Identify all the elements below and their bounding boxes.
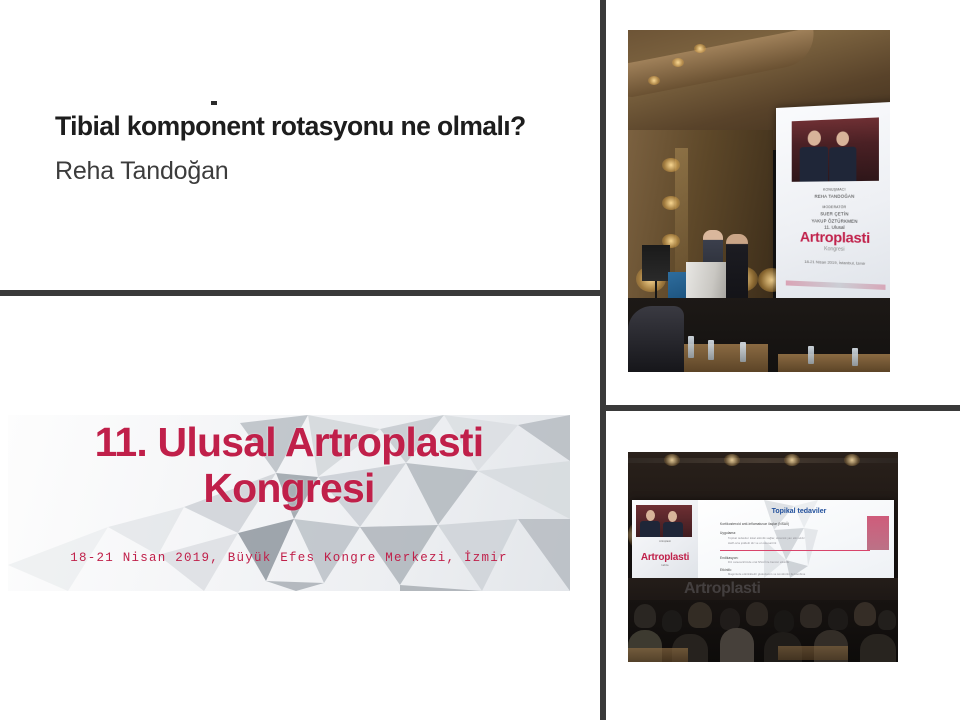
ceiling-downlight	[672, 58, 684, 67]
audience-table	[778, 646, 848, 660]
projected-bullet: Uygulama:	[720, 531, 736, 535]
water-bottle	[708, 340, 714, 360]
projected-title-panel: Artroplasti Artroplasti kahza	[632, 500, 698, 578]
projected-bullet: Kortikosteroid anti-inflamatuvar ilaçlar…	[720, 522, 789, 526]
artifact-speck-icon	[211, 101, 217, 105]
projection-screen: KONUŞMACI REHA TANDOĞAN MODERATÖR SUER Ç…	[776, 102, 890, 305]
wide-projection-screen: Artroplasti Artroplasti kahza Topikal te…	[632, 500, 894, 578]
speaker-body	[829, 147, 856, 182]
audience-table	[628, 648, 688, 662]
projected-speaker-name: REHA TANDOĞAN	[792, 193, 879, 200]
spotlight-icon	[724, 454, 740, 466]
banner-title: 11. Ulusal Artroplasti Kongresi	[8, 419, 570, 512]
audience-head	[662, 610, 682, 632]
talk-speaker-name: Reha Tandoğan	[55, 158, 229, 186]
projected-sub-bullet: Diz osteoartritinde oral NSAİİ ile benze…	[728, 561, 789, 564]
projected-date-venue: 18-21 Nisan 2019, İstanbul, İzmir	[786, 258, 886, 266]
projected-speaker-photo	[636, 505, 692, 537]
projected-bullet: Endikasyon:	[720, 556, 738, 560]
audience-head	[720, 608, 740, 630]
projected-brand: Artroplasti	[632, 552, 698, 563]
spotlight-icon	[844, 454, 860, 466]
divider-horizontal-right	[600, 405, 960, 411]
speaker-body	[800, 146, 828, 181]
projected-speaker-photo	[792, 117, 879, 181]
wall-lamp-icon	[662, 196, 680, 210]
projected-sub-bullet: Hafif-orta şiddetli diz ve el osteoartri…	[728, 542, 776, 545]
audience-head-front	[860, 634, 896, 662]
projected-divider-rule	[720, 550, 870, 551]
projected-speaker-label: KONUŞMACI	[792, 187, 879, 193]
projected-moderator-label: MODERATÖR	[792, 205, 879, 211]
divider-horizontal-left	[0, 290, 606, 296]
projected-sponsor-bar	[786, 280, 886, 290]
page-title: Tibial komponent rotasyonu ne olmalı?	[55, 112, 575, 141]
loudspeaker-icon	[642, 245, 670, 281]
speaker-head	[808, 130, 821, 146]
projected-brand-suffix: Kongresi	[786, 245, 886, 254]
speaker-body	[640, 521, 660, 537]
projected-sub-bullet: Topikal tedaviler lokal etkinlik sağlar,…	[728, 537, 805, 540]
talk-title-panel: Tibial komponent rotasyonu ne olmalı? Re…	[0, 0, 600, 290]
spotlight-icon	[784, 454, 800, 466]
projected-brand: Artroplasti	[786, 228, 886, 246]
divider-vertical	[600, 0, 606, 720]
audience-head-front	[720, 628, 754, 662]
banner-title-line1: 11. Ulusal Artroplasti	[95, 419, 484, 465]
audience-table	[778, 354, 890, 372]
audience-head	[688, 602, 712, 628]
speaker-head	[646, 510, 655, 521]
auditorium-podium-photo: KONUŞMACI REHA TANDOĞAN MODERATÖR SUER Ç…	[628, 30, 890, 372]
water-bottle	[808, 346, 814, 364]
audience-member	[628, 306, 684, 372]
water-bottle	[688, 336, 694, 358]
banner-date-venue: 18-21 Nisan 2019, Büyük Efes Kongre Merk…	[8, 551, 570, 565]
projected-sponsor: kahza	[632, 564, 698, 568]
projected-content-panel: Topikal tedaviler Kortikosteroid anti-in…	[698, 500, 894, 578]
audience-head	[800, 604, 822, 628]
projected-bullet: Etkinlik:	[720, 568, 732, 572]
spotlight-icon	[664, 454, 680, 466]
ceiling-downlight	[648, 76, 660, 85]
water-bottle	[852, 348, 858, 366]
audience-head	[854, 602, 876, 626]
banner-title-line2: Kongresi	[8, 465, 570, 511]
speaker-body	[663, 522, 683, 537]
audience-head	[634, 604, 656, 628]
speaker-head	[668, 511, 677, 522]
second-presenter	[726, 234, 748, 308]
sponsor-logo	[867, 516, 889, 550]
audience-head	[878, 610, 896, 630]
wall-lamp-icon	[662, 158, 680, 172]
audience-head	[774, 610, 794, 632]
speaker-head	[836, 131, 849, 146]
audience-wide-screen-photo: Artroplasti Artroplasti kahza Topikal te…	[628, 452, 898, 662]
audience-head	[828, 608, 848, 630]
congress-banner: 11. Ulusal Artroplasti Kongresi 18-21 Ni…	[8, 415, 570, 591]
audience-head	[746, 602, 768, 626]
projected-slide-title: Topikal tedaviler	[734, 508, 864, 515]
wall-brand-watermark: Artroplasti	[684, 580, 804, 598]
projected-sub-bullet: Magnitude etkinliktedir glukozamin ve ko…	[728, 573, 805, 576]
ceiling-downlight	[694, 44, 706, 53]
projected-speaker-label: Artroplasti	[632, 540, 698, 544]
water-bottle	[740, 342, 746, 362]
